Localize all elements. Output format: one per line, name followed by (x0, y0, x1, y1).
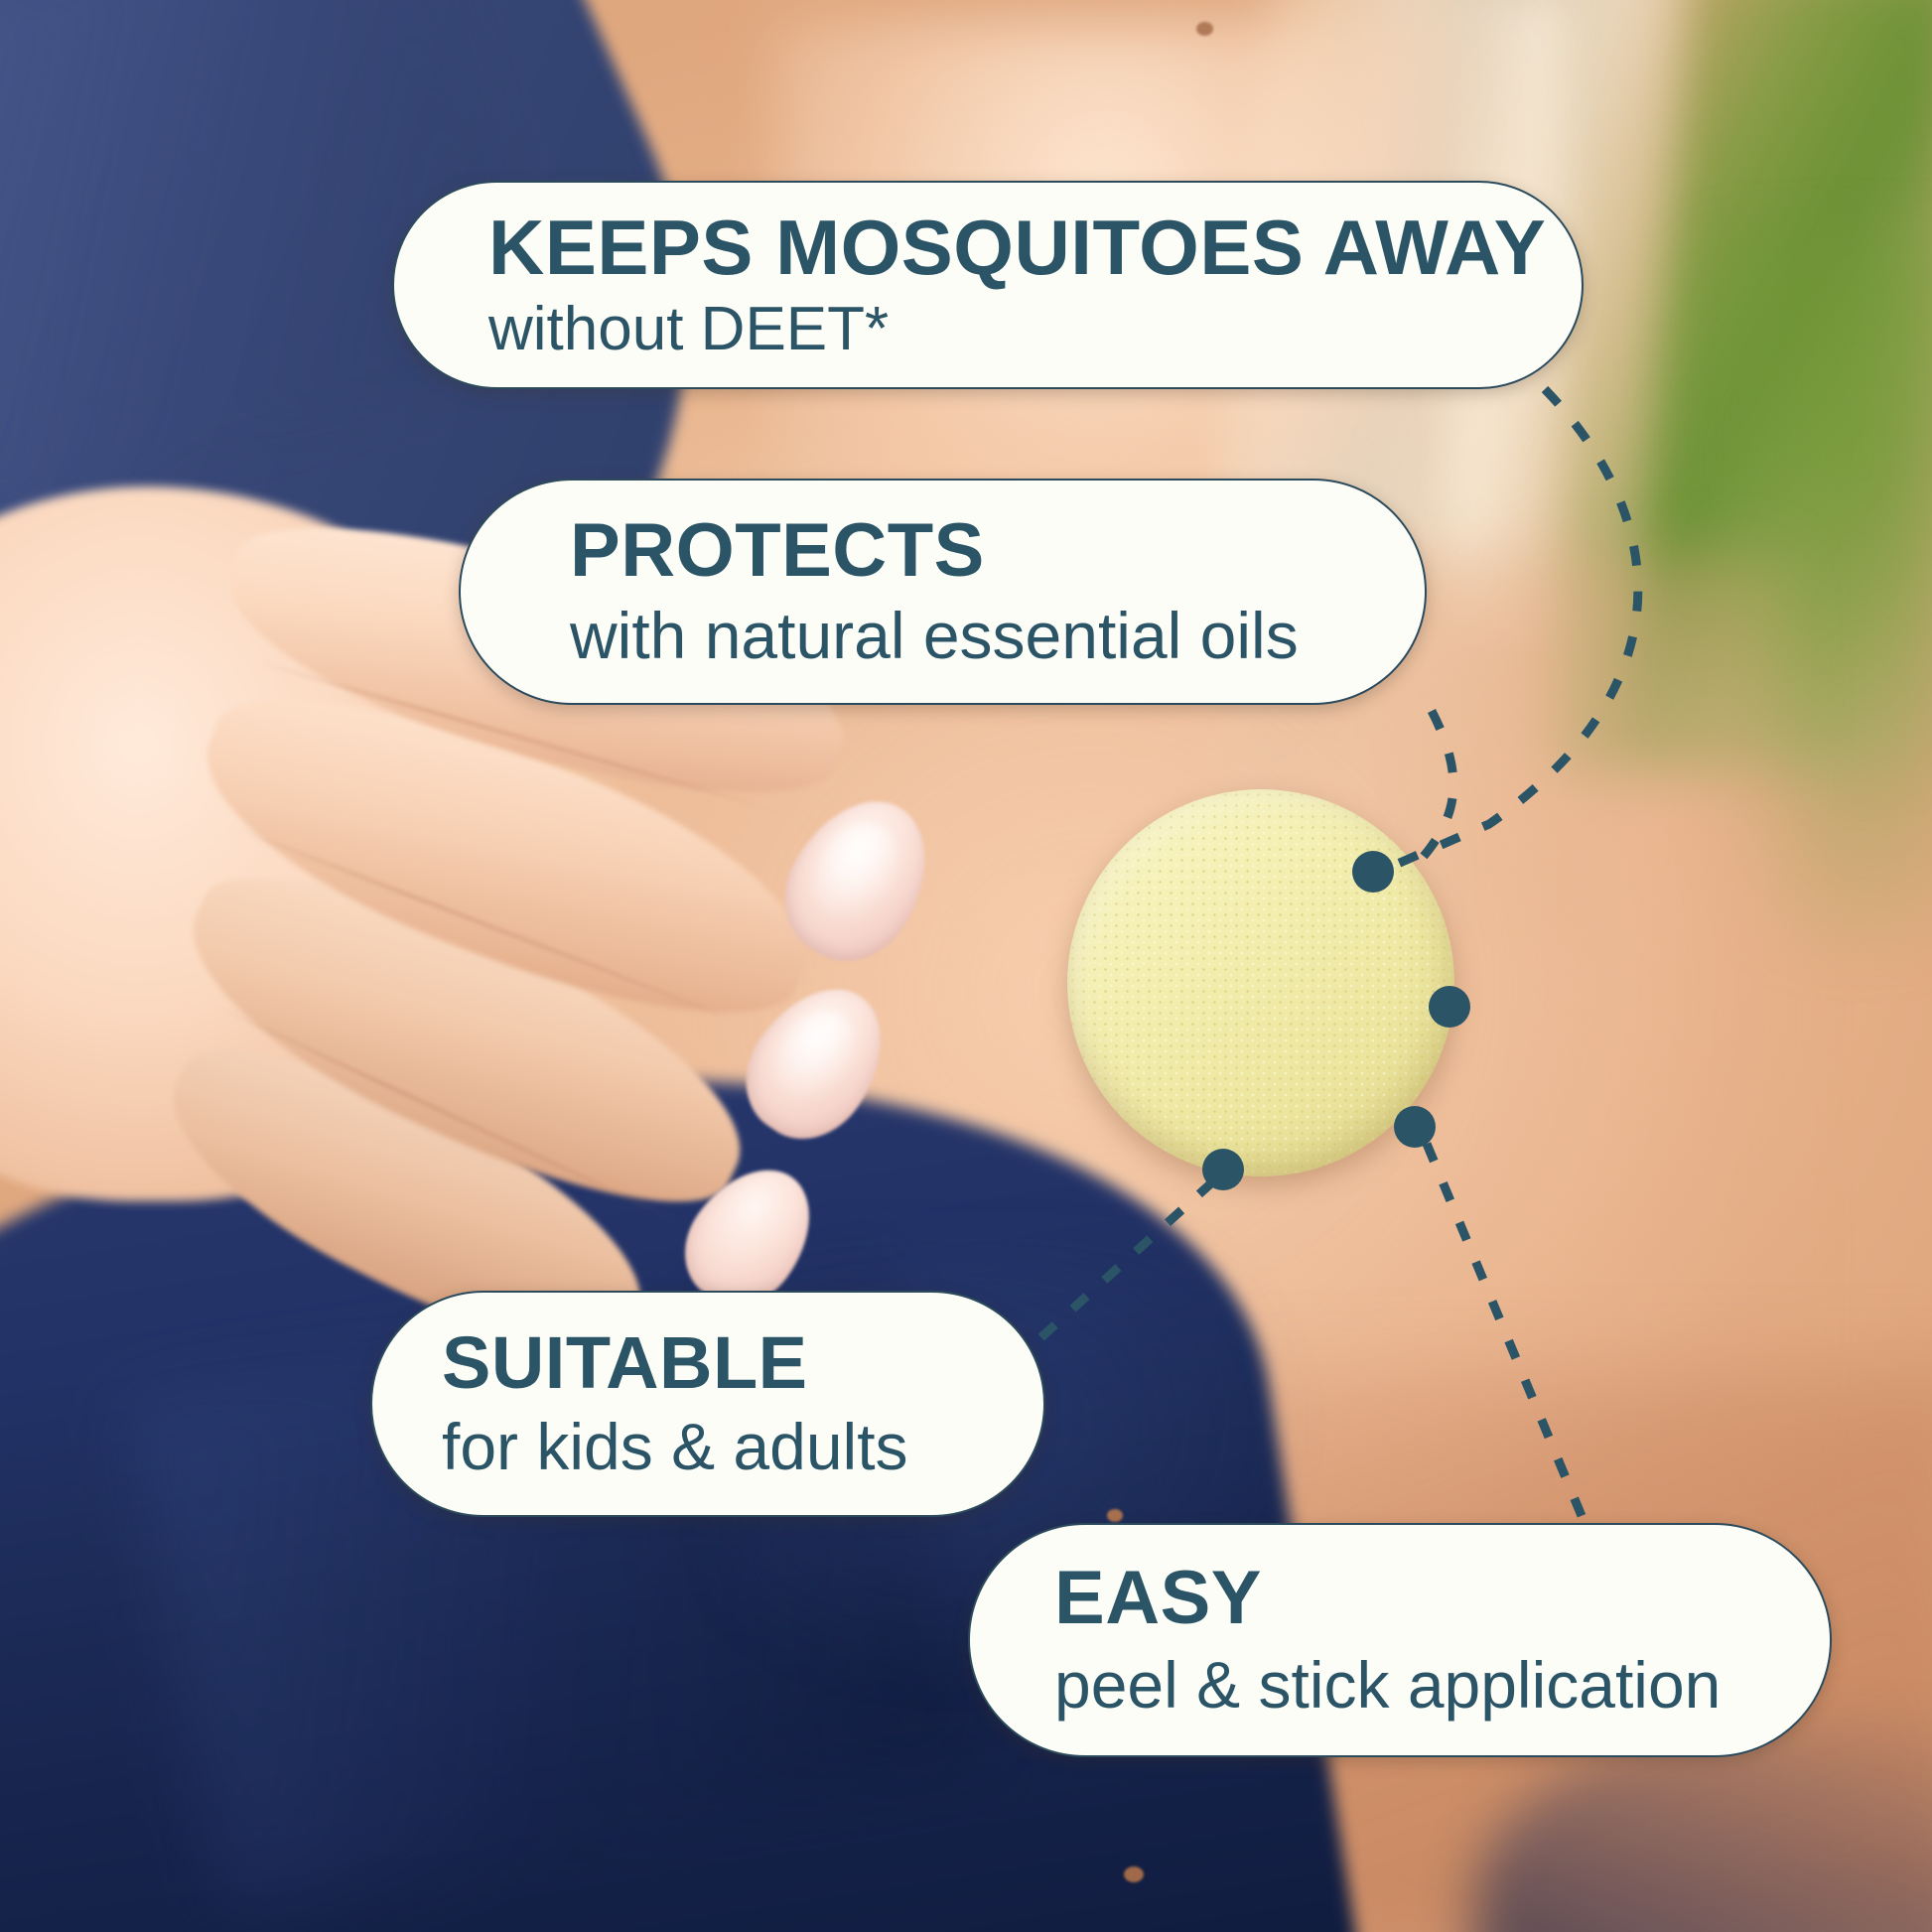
connector-line-suitable (1033, 1181, 1213, 1345)
skin-mole (1107, 1509, 1123, 1522)
skin-mole (1124, 1866, 1144, 1882)
callout-protects[interactable]: PROTECTS with natural essential oils (459, 479, 1427, 705)
callout-headline: EASY (1054, 1561, 1830, 1636)
callout-headline: PROTECTS (570, 513, 1425, 589)
callout-suitable[interactable]: SUITABLE for kids & adults (370, 1291, 1045, 1517)
callout-subline: peel & stick application (1054, 1652, 1830, 1719)
repellent-patch (1067, 789, 1454, 1176)
callout-subline: with natural essential oils (570, 603, 1425, 669)
callout-subline: for kids & adults (442, 1414, 1043, 1480)
connector-line-easy (1427, 1144, 1585, 1523)
callout-headline: SUITABLE (442, 1326, 1043, 1400)
callout-keeps-mosquitoes-away[interactable]: KEEPS MOSQUITOES AWAY without DEET* (392, 181, 1584, 389)
foliage-background (1545, 0, 1932, 774)
infographic-canvas: KEEPS MOSQUITOES AWAY without DEET* PROT… (0, 0, 1932, 1932)
foliage-background-soft (1684, 248, 1932, 943)
connector-line-protects (1410, 711, 1453, 872)
connector-line-keeps (1393, 389, 1638, 866)
skin-mole (1196, 22, 1213, 36)
callout-easy[interactable]: EASY peel & stick application (968, 1523, 1832, 1757)
callout-subline: without DEET* (488, 298, 1582, 360)
callout-headline: KEEPS MOSQUITOES AWAY (488, 208, 1582, 286)
